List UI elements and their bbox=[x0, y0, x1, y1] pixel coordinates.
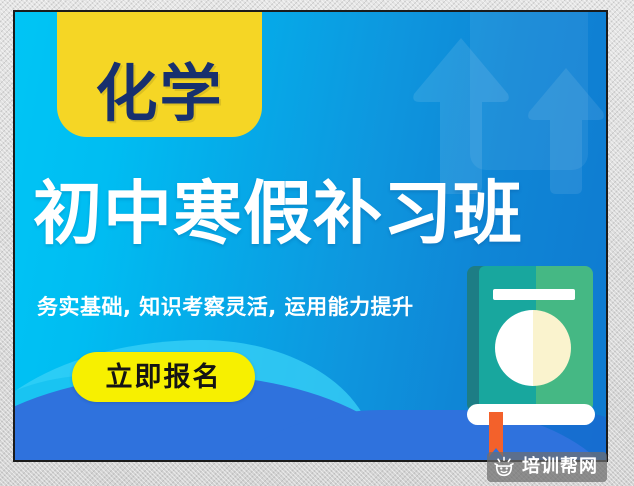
decorative-panel bbox=[470, 10, 588, 170]
book-icon bbox=[467, 264, 600, 430]
headline: 初中寒假补习班 bbox=[33, 180, 603, 249]
book-title-bar bbox=[493, 289, 575, 300]
watermark: 培训帮网 bbox=[487, 452, 607, 482]
watermark-text: 培训帮网 bbox=[522, 458, 598, 476]
subtitle: 务实基础, 知识考察灵活, 运用能力提升 bbox=[37, 291, 414, 321]
promo-banner: 化学 初中寒假补习班 务实基础, 知识考察灵活, 运用能力提升 立即报名 bbox=[13, 10, 608, 462]
sun-face-icon bbox=[493, 456, 515, 478]
register-now-button[interactable]: 立即报名 bbox=[72, 352, 255, 402]
subject-badge: 化学 bbox=[57, 10, 262, 137]
book-pages bbox=[467, 404, 595, 425]
register-now-label: 立即报名 bbox=[106, 364, 222, 391]
subject-badge-label: 化学 bbox=[95, 63, 223, 125]
book-bookmark bbox=[489, 412, 503, 448]
